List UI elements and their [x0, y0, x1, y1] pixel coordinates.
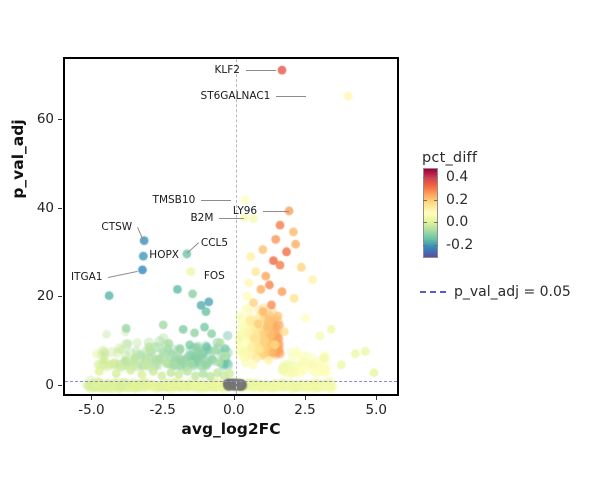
x-tick-label: -2.5 — [149, 402, 175, 418]
gene-leader-line — [263, 211, 289, 212]
colorbar-legend: pct_diff 0.40.20.0-0.2 — [420, 150, 595, 260]
x-axis-title: avg_log2FC — [63, 420, 399, 438]
y-tick-label: 60 — [37, 111, 54, 127]
y-tick-mark — [58, 385, 62, 386]
gene-label-fos: FOS — [204, 271, 225, 282]
gene-label-b2m: B2M — [190, 213, 213, 224]
threshold-line-legend: p_val_adj = 0.05 — [420, 284, 571, 300]
plot-panel: KLF2ST6GALNAC1TMSB10B2MLY96CTSWCCL5HOPXF… — [63, 57, 399, 396]
colorbar-tick-mark — [434, 245, 438, 246]
y-tick-mark — [58, 119, 62, 120]
x-tick-mark — [305, 396, 306, 400]
colorbar-tick-mark — [423, 177, 427, 178]
y-axis-title: p_val_adj — [9, 79, 27, 239]
colorbar-tick-mark — [434, 222, 438, 223]
x-tick-mark — [91, 396, 92, 400]
y-tick-mark — [58, 296, 62, 297]
gene-label-tmsb10: TMSB10 — [153, 195, 196, 206]
colorbar-title: pct_diff — [422, 150, 595, 166]
colorbar-tick-label: 0.0 — [446, 214, 468, 230]
colorbar-tick-mark — [423, 245, 427, 246]
gene-label-hopx: HOPX — [149, 250, 179, 261]
x-tick-label: 2.5 — [294, 402, 315, 418]
y-tick-label: 40 — [37, 200, 54, 216]
gene-leader-line — [219, 218, 244, 219]
colorbar-wrap: 0.40.20.0-0.2 — [420, 168, 595, 260]
x-tick-label: 5.0 — [365, 402, 386, 418]
gene-leader-line — [201, 200, 231, 201]
gene-label-ctsw: CTSW — [101, 222, 132, 233]
x-tick-mark — [163, 396, 164, 400]
colorbar-tick-mark — [423, 200, 427, 201]
colorbar-tick-label: 0.2 — [446, 192, 468, 208]
y-tick-label: 20 — [37, 288, 54, 304]
gene-label-st6galnac1: ST6GALNAC1 — [201, 91, 271, 102]
colorbar-tick-label: 0.4 — [446, 169, 468, 185]
gene-label-itga1: ITGA1 — [71, 272, 103, 283]
dashed-line-swatch — [420, 291, 446, 293]
threshold-line-label: p_val_adj = 0.05 — [454, 284, 571, 300]
colorbar-tick-mark — [434, 177, 438, 178]
x-tick-mark — [234, 396, 235, 400]
gene-leader-line — [246, 70, 276, 71]
pvalue-threshold-line — [65, 381, 397, 382]
gene-label-ccl5: CCL5 — [201, 238, 228, 249]
y-tick-label: 0 — [45, 377, 54, 393]
gene-label-klf2: KLF2 — [215, 65, 240, 76]
x-tick-label: 0.0 — [223, 402, 244, 418]
colorbar-tick-mark — [434, 200, 438, 201]
gene-leader-line — [276, 96, 306, 97]
zero-reference-line — [236, 59, 237, 394]
colorbar-tick-mark — [423, 222, 427, 223]
volcano-plot: KLF2ST6GALNAC1TMSB10B2MLY96CTSWCCL5HOPXF… — [0, 0, 600, 500]
gene-label-ly96: LY96 — [233, 206, 257, 217]
colorbar-tick-label: -0.2 — [446, 237, 473, 253]
y-tick-mark — [58, 208, 62, 209]
x-tick-label: -5.0 — [78, 402, 104, 418]
x-tick-mark — [376, 396, 377, 400]
